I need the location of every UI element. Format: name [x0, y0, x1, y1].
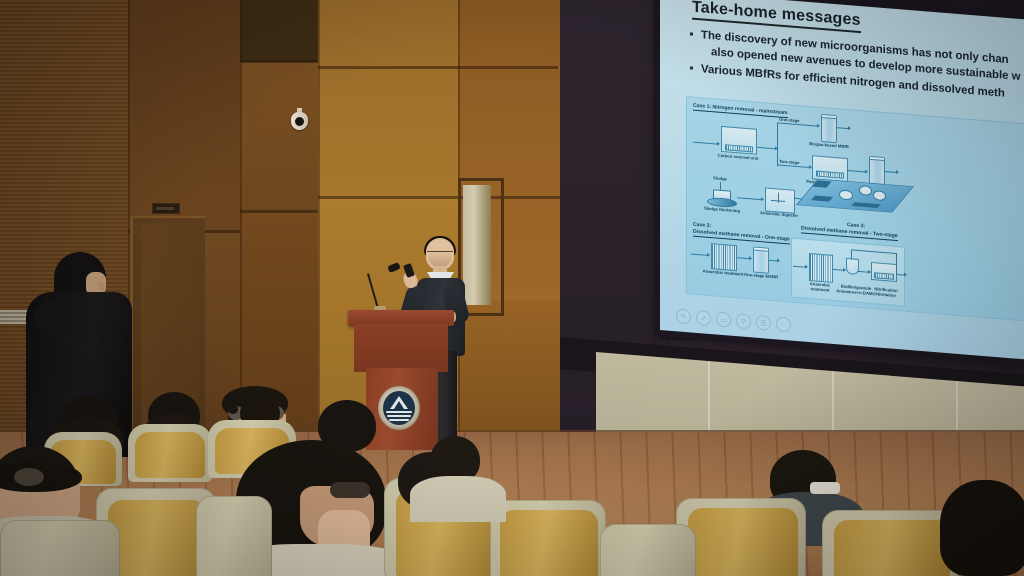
plant-clarifier	[859, 185, 872, 196]
wall-seam	[318, 66, 558, 69]
slide-diagram: Case 1: Nitrogen removal - mainstream Ca…	[686, 96, 1024, 322]
camera-lens	[295, 117, 304, 126]
sludge-thickening-label: Sludge thickening	[697, 205, 747, 214]
seat-armrest-trim	[135, 432, 205, 478]
audience-collar	[810, 482, 840, 494]
flow-arrow	[836, 127, 850, 129]
wall-seam	[240, 60, 318, 63]
wall-seam	[318, 196, 560, 199]
audience-glasses-icon	[330, 482, 370, 498]
emblem-triangle-inner	[394, 401, 404, 409]
audience-hair	[228, 404, 238, 414]
wall-panel-mid-upper	[240, 62, 318, 212]
flow-arrow	[693, 142, 719, 145]
audience-head	[232, 398, 234, 400]
one-stage-mabr-cylinder	[753, 246, 769, 273]
seat-armrest-trim	[108, 500, 206, 576]
door-sign-plate	[152, 203, 180, 214]
case1-label: Case 1: Nitrogen removal - mainstream	[693, 103, 788, 118]
flow-arrow	[737, 257, 751, 259]
wall-seam-vertical	[318, 0, 320, 436]
projection-screen[interactable]: Take-home messages The discovery of new …	[660, 0, 1024, 360]
presentation-toolbar[interactable]: ✎ ➚ ▭ ⚲ ☰ ⋯	[676, 308, 791, 332]
podium-emblem	[378, 386, 420, 430]
carbon-removal-unit-label: Carbon removal unit	[709, 152, 767, 162]
seat-armrest-trim	[500, 510, 598, 576]
anaerobic-treatment-membrane-1	[711, 243, 737, 271]
audience-head	[940, 480, 1024, 576]
emblem-inner-disc	[383, 391, 415, 425]
powerpoint-slide: Take-home messages The discovery of new …	[660, 0, 1024, 360]
emblem-wave-icon	[387, 415, 411, 417]
one-stage-mabr-label: One-stage MABR	[743, 272, 779, 280]
biogas-mbfr-label-1: Biogas-based MBfR	[805, 141, 853, 150]
standing-person-ear	[98, 282, 105, 291]
seat-armrest-trim	[688, 508, 798, 576]
seat	[600, 524, 696, 576]
recycle-down-arrow	[851, 250, 852, 259]
seat	[196, 496, 272, 576]
pointer-icon[interactable]: ➚	[696, 310, 711, 326]
flow-arrow	[691, 253, 709, 255]
biogas-mbfr-cylinder-1	[821, 114, 837, 143]
flow-arrow	[769, 260, 779, 262]
wall-seam	[240, 210, 318, 213]
wall-seam-vertical	[240, 0, 242, 436]
podium-body	[366, 368, 438, 450]
more-icon[interactable]: ⋯	[776, 316, 791, 332]
emblem-wave-icon	[389, 419, 409, 421]
dome-security-camera-icon	[291, 108, 308, 130]
wall-panel-ochre-upper	[318, 0, 458, 196]
plant-clarifier	[873, 190, 886, 201]
seat-armrest-trim	[834, 520, 950, 576]
wall-panel-dark-top	[240, 0, 318, 62]
emblem-wave-icon	[386, 411, 412, 413]
auditorium-photo: Take-home messages The discovery of new …	[0, 0, 1024, 576]
flow-split	[777, 122, 778, 166]
anaerobic-treatment-label-1: Anaerobic treatment	[701, 268, 745, 277]
presenter-glasses-icon	[427, 251, 453, 257]
audience-shoulders	[410, 476, 506, 522]
audience-head	[228, 392, 232, 396]
wall-panel-left-upper	[128, 0, 240, 232]
flow-arrow	[737, 197, 763, 200]
zoom-icon[interactable]: ⚲	[736, 313, 751, 329]
pen-icon[interactable]: ✎	[676, 308, 691, 324]
case2-sublabel: Dissolved methane removal - One-stage	[693, 229, 790, 245]
standing-person-hood-fold	[34, 300, 74, 334]
biofilm-granule-reactor	[846, 258, 859, 275]
flow-arrow	[757, 147, 777, 149]
slide-view-icon[interactable]: ▭	[716, 312, 731, 328]
podium-front-face	[354, 324, 448, 372]
seat	[0, 520, 120, 576]
recycle-riser	[896, 253, 897, 275]
menu-icon[interactable]: ☰	[756, 315, 771, 331]
audience-glasses-icon	[14, 468, 44, 486]
isometric-plant-illustration	[807, 167, 903, 225]
anaerobic-digester-label: Anaerobic digester	[749, 209, 809, 219]
anaerobic-treatment-membrane-2	[809, 253, 833, 283]
